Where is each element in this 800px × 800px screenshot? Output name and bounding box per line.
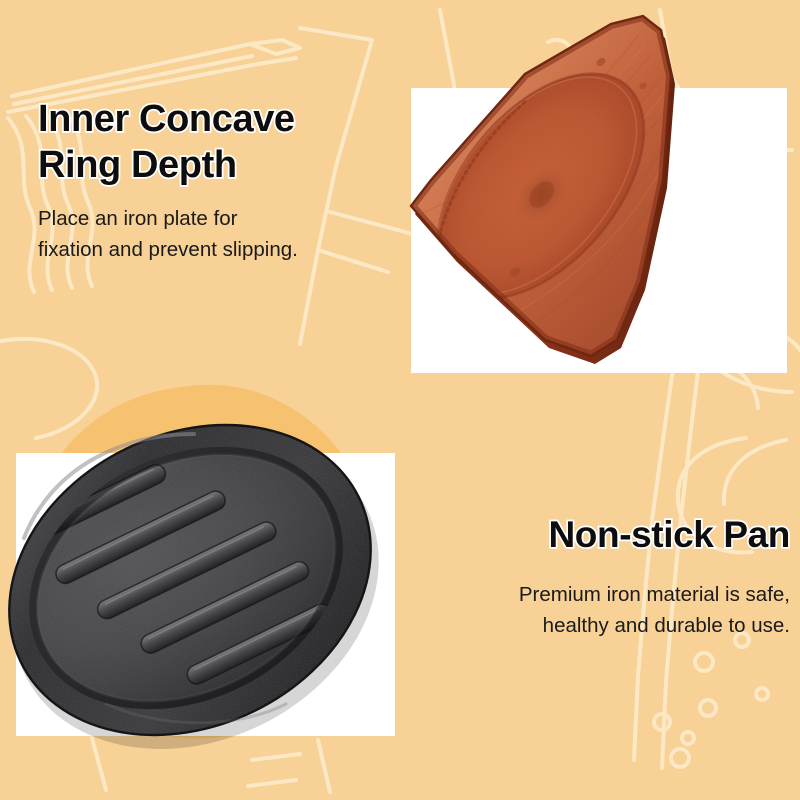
cast-iron-pan-photo — [0, 408, 394, 768]
product-infographic: Inner Concave Ring Depth Place an iron p… — [0, 0, 800, 800]
feature-description: Premium iron material is safe, healthy a… — [440, 579, 790, 641]
feature-headline: Inner Concave Ring Depth — [38, 96, 388, 189]
feature-description: Place an iron plate for fixation and pre… — [38, 203, 388, 265]
feature-text-non-stick-pan: Non-stick Pan Premium iron material is s… — [440, 512, 790, 641]
feature-text-inner-concave-ring-depth: Inner Concave Ring Depth Place an iron p… — [38, 96, 388, 265]
wooden-serving-tray-photo — [395, 10, 795, 390]
feature-headline: Non-stick Pan — [440, 512, 790, 557]
